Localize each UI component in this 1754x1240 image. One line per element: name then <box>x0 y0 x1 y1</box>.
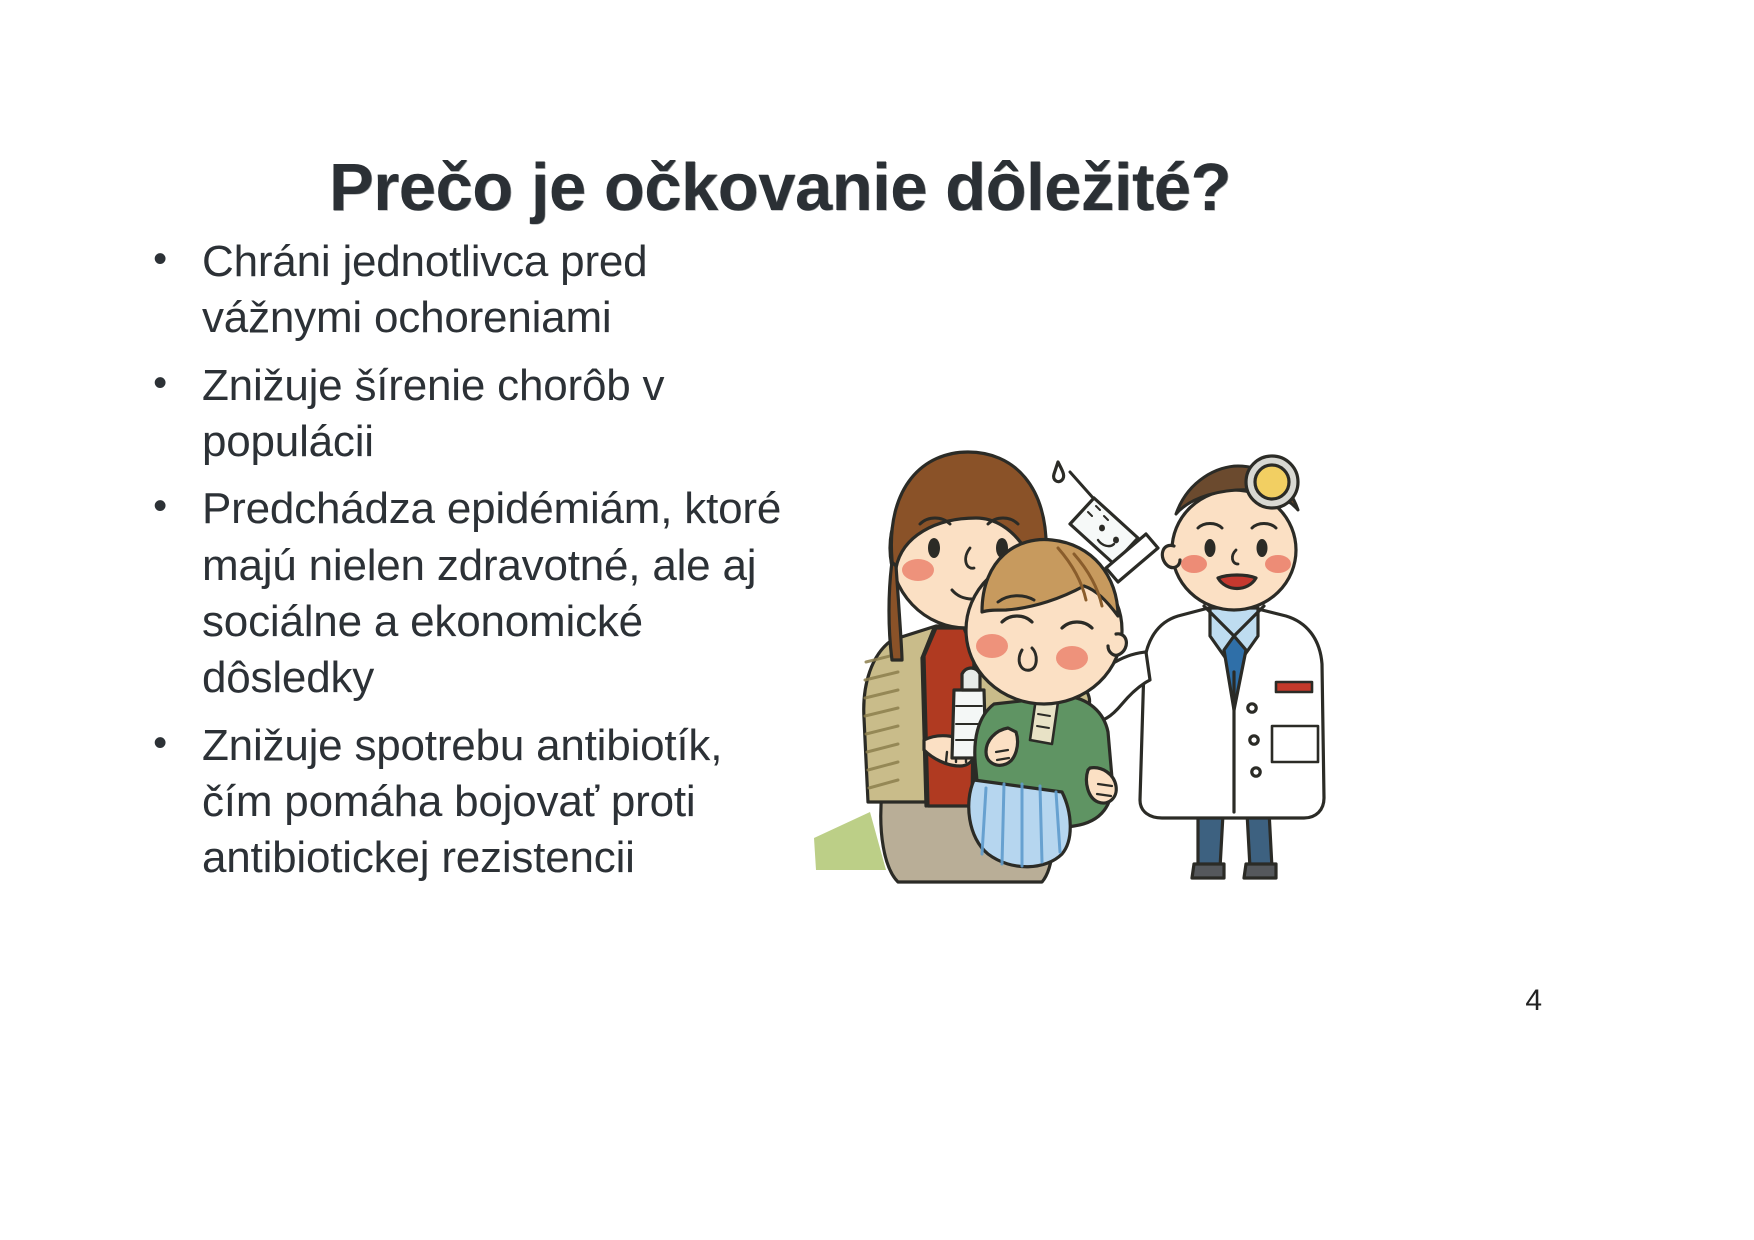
list-item: • Znižuje spotrebu antibiotík, čím pomáh… <box>138 718 798 887</box>
page-number: 4 <box>1525 984 1542 1018</box>
vaccination-illustration <box>806 440 1376 890</box>
list-item: • Chráni jednotlivca pred vážnymi ochore… <box>138 234 798 347</box>
list-item-label: Predchádza epidémiám, ktoré majú nielen … <box>202 481 798 706</box>
list-item: • Predchádza epidémiám, ktoré majú niele… <box>138 481 798 706</box>
list-item-label: Znižuje spotrebu antibiotík, čím pomáha … <box>202 718 798 887</box>
page-title: Prečo je očkovanie dôležité? <box>0 149 1560 226</box>
bullet-point-icon: • <box>150 234 170 285</box>
list-item: • Znižuje šírenie chorôb v populácii <box>138 358 798 471</box>
bullet-point-icon: • <box>150 481 170 532</box>
list-item-label: Znižuje šírenie chorôb v populácii <box>202 358 798 471</box>
bullet-point-icon: • <box>150 358 170 409</box>
bullet-list: • Chráni jednotlivca pred vážnymi ochore… <box>138 234 798 897</box>
bullet-point-icon: • <box>150 718 170 769</box>
slide-canvas: Prečo je očkovanie dôležité? • Chráni je… <box>0 0 1754 1240</box>
list-item-label: Chráni jednotlivca pred vážnymi ochoreni… <box>202 234 798 347</box>
